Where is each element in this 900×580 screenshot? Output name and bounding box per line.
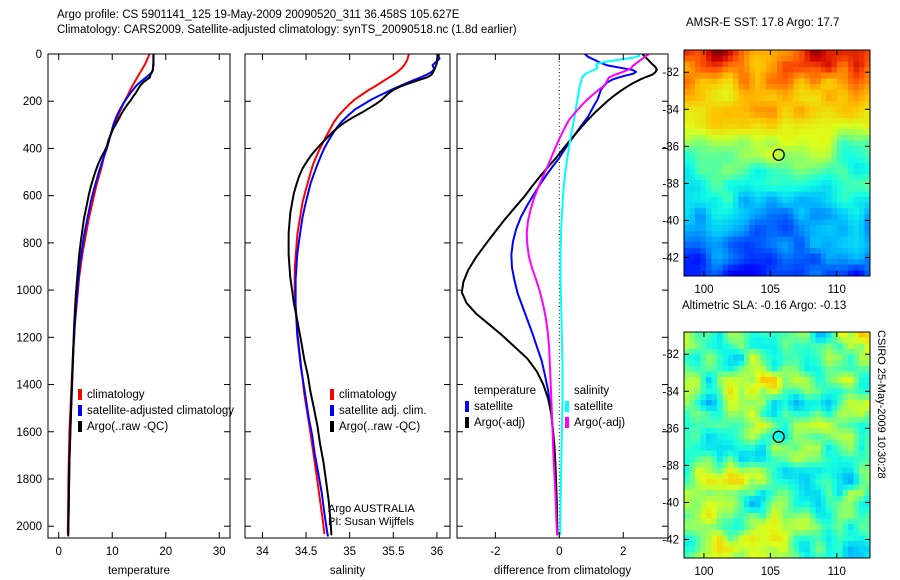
y-tick-label: 1000 <box>16 285 42 297</box>
legend-label: Argo(..raw -QC) <box>339 421 420 433</box>
argo-australia-note: Argo AUSTRALIA <box>328 503 415 515</box>
legend-swatch <box>465 401 469 412</box>
x-tick-label: 30 <box>213 546 226 558</box>
sst-map-title: AMSR-E SST: 17.8 Argo: 17.7 <box>686 17 839 29</box>
series-line <box>68 54 153 534</box>
x-tick-label: -2 <box>490 546 500 558</box>
y-tick-label: 1400 <box>16 380 42 392</box>
legend-swatch <box>78 389 82 400</box>
map-x-tick-label: 110 <box>828 566 846 578</box>
series-line <box>68 54 153 536</box>
map-y-tick-label: -42 <box>662 534 679 546</box>
x-tick-label: 20 <box>159 546 172 558</box>
map-field <box>684 332 871 559</box>
panel-sst-map[interactable]: -32-34-36-38-40-42100105110 <box>648 44 900 294</box>
y-tick-label: 0 <box>36 49 42 61</box>
legend-swatch <box>565 417 569 428</box>
x-tick-label: 34.5 <box>295 546 317 558</box>
sla-map[interactable]: -32-34-36-38-40-42100105110 <box>648 326 900 576</box>
y-tick-label: 1600 <box>16 427 42 439</box>
legend-swatch <box>565 401 569 412</box>
legend-label: climatology <box>87 389 145 401</box>
x-axis-label: temperature <box>108 565 170 577</box>
legend-label: satellite-adjusted climatology <box>87 405 234 417</box>
title-line-2: Climatology: CARS2009. Satellite-adjuste… <box>57 24 517 36</box>
legend-label: climatology <box>339 389 397 401</box>
y-tick-label: 1200 <box>16 332 42 344</box>
series-line <box>68 54 149 533</box>
map-y-tick-label: -36 <box>662 141 679 153</box>
y-tick-label: 400 <box>23 143 42 155</box>
y-tick-label: 1800 <box>16 474 42 486</box>
panel-salinity[interactable]: 3434.53535.536salinityclimatologysatelli… <box>225 46 465 580</box>
map-y-tick-label: -38 <box>662 460 679 472</box>
y-tick-label: 2000 <box>16 521 42 533</box>
y-tick-label: 200 <box>23 96 42 108</box>
legend-label: Argo(-adj) <box>474 417 525 429</box>
map-x-tick-label: 100 <box>694 566 713 578</box>
series-line <box>527 54 649 534</box>
map-field <box>684 50 871 277</box>
legend-label: satellite <box>474 401 513 413</box>
series-line <box>295 54 409 533</box>
map-y-tick-label: -34 <box>662 104 679 116</box>
map-x-tick-label: 100 <box>694 284 713 296</box>
legend-swatch <box>465 417 469 428</box>
legend-heading: temperature <box>474 385 536 397</box>
legend-heading: salinity <box>574 385 609 397</box>
panel-temperature[interactable]: 0200400600800100012001400160018002000010… <box>0 46 240 580</box>
series-line <box>560 54 639 534</box>
legend-label: Argo(..raw -QC) <box>87 421 168 433</box>
plot-frame <box>457 54 668 538</box>
legend-label: satellite <box>574 401 613 413</box>
x-tick-label: 10 <box>106 546 119 558</box>
x-tick-label: 0 <box>56 546 62 558</box>
map-x-tick-label: 110 <box>828 284 846 296</box>
legend-label: satellite adj. clim. <box>339 405 427 417</box>
series-line <box>289 54 439 534</box>
y-tick-label: 600 <box>23 191 42 203</box>
map-y-tick-label: -42 <box>662 252 679 264</box>
sst-map[interactable]: -32-34-36-38-40-42100105110 <box>648 44 900 294</box>
map-y-tick-label: -36 <box>662 423 679 435</box>
x-tick-label: 0 <box>556 546 562 558</box>
x-tick-label: 34 <box>256 546 269 558</box>
temperature-plot[interactable]: 0200400600800100012001400160018002000010… <box>0 46 240 580</box>
map-y-tick-label: -34 <box>662 386 679 398</box>
panel-sla-map[interactable]: -32-34-36-38-40-42100105110 <box>648 326 900 576</box>
legend-swatch <box>330 405 334 416</box>
x-tick-label: 35.5 <box>382 546 404 558</box>
pi-note: PI: Susan Wijffels <box>328 516 414 528</box>
series-line <box>296 54 440 536</box>
y-tick-label: 800 <box>23 238 42 250</box>
map-y-tick-label: -32 <box>662 349 679 361</box>
legend-swatch <box>78 405 82 416</box>
plot-frame <box>245 54 450 538</box>
title-line-1: Argo profile: CS 5901141_125 19-May-2009… <box>57 9 459 21</box>
x-tick-label: 35 <box>343 546 356 558</box>
x-axis-label: difference from climatology <box>494 565 631 577</box>
map-x-tick-label: 105 <box>761 284 780 296</box>
legend-label: Argo(-adj) <box>574 417 625 429</box>
panel-difference[interactable]: -202difference from climatologytemperatu… <box>437 46 682 580</box>
x-tick-label: 2 <box>620 546 626 558</box>
map-y-tick-label: -40 <box>662 215 679 227</box>
legend-swatch <box>330 421 334 432</box>
map-y-tick-label: -32 <box>662 67 679 79</box>
legend-swatch <box>78 421 82 432</box>
csiro-timestamp: CSIRO 25-May-2009 10:30:28 <box>875 330 887 479</box>
difference-plot[interactable]: -202difference from climatologytemperatu… <box>437 46 682 580</box>
salinity-plot[interactable]: 3434.53535.536salinityclimatologysatelli… <box>225 46 465 580</box>
x-axis-label: salinity <box>330 565 365 577</box>
page-title: Argo profile: CS 5901141_125 19-May-2009… <box>57 8 517 38</box>
map-y-tick-label: -40 <box>662 497 679 509</box>
sla-map-title: Altimetric SLA: -0.16 Argo: -0.13 <box>682 300 846 312</box>
map-x-tick-label: 105 <box>761 566 780 578</box>
legend-swatch <box>330 389 334 400</box>
map-y-tick-label: -38 <box>662 178 679 190</box>
